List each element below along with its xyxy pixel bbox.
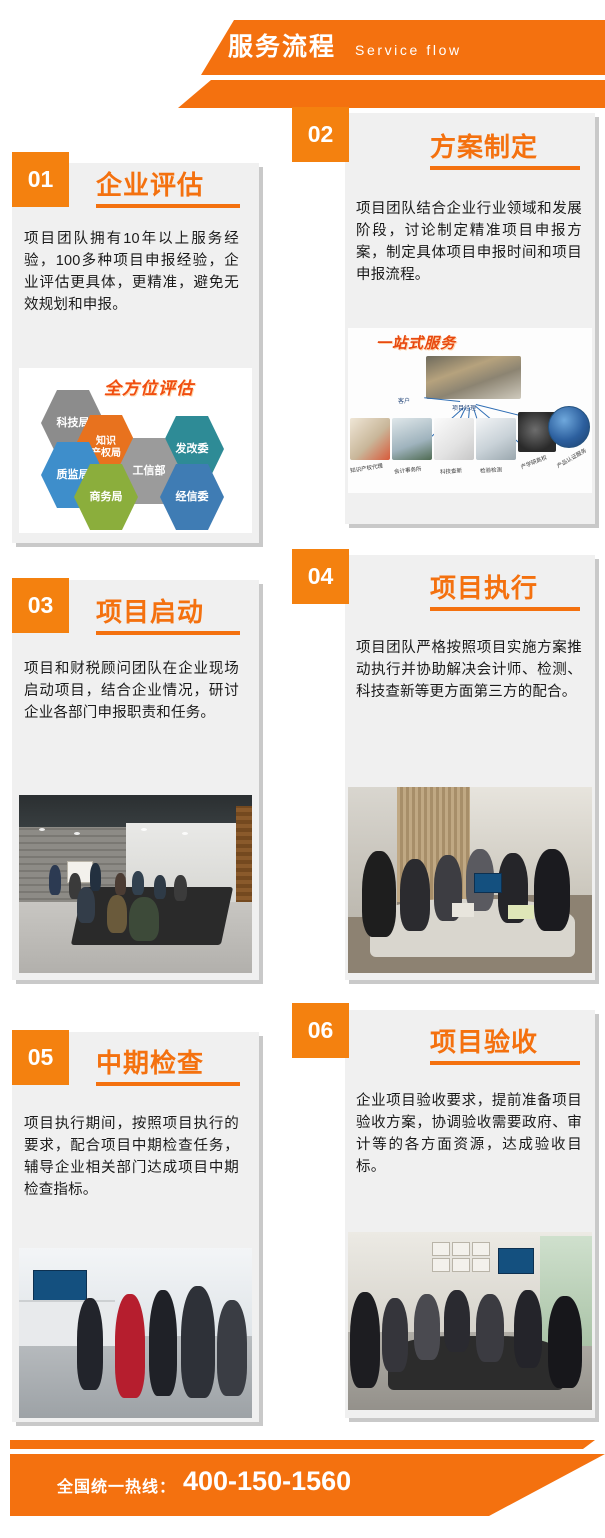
photo-wood-panel xyxy=(236,806,252,916)
step-body-04: 项目团队严格按照项目实施方案推动执行并协助解决会计师、检测、科技查新等更方面第三… xyxy=(356,637,582,703)
photo-person xyxy=(414,1294,440,1360)
oss-leaf-label-6: 产品认证服务 xyxy=(555,446,588,469)
page-subtitle: Service flow xyxy=(355,40,462,60)
step-body-02: 项目团队结合企业行业领域和发展阶段，讨论制定精准项目申报方案，制定具体项目申报时… xyxy=(356,198,582,286)
oss-node-customer: 客户 xyxy=(398,396,410,405)
photo-person xyxy=(77,1298,103,1390)
step-photo-06 xyxy=(348,1232,592,1410)
photo-wall-frame xyxy=(472,1258,490,1272)
step-title-rule-05 xyxy=(96,1082,240,1086)
step-title-05: 中期检查 xyxy=(96,1043,204,1080)
oss-center-photo xyxy=(426,356,521,399)
step-title-01: 企业评估 xyxy=(96,165,204,202)
step-body-06: 企业项目验收要求，提前准备项目验收方案，协调验收需要政府、审计等的各方面资源，达… xyxy=(356,1090,582,1178)
photo-ceiling-light xyxy=(39,828,45,831)
oss-leaf-label-1: 知识产权代理 xyxy=(350,461,384,474)
photo-person xyxy=(129,897,159,941)
photo-laptop xyxy=(474,873,502,893)
oss-leaf-photo-2 xyxy=(392,418,432,460)
step-badge-02: 02 xyxy=(292,107,349,162)
photo-wall-frame xyxy=(432,1258,450,1272)
step-title-rule-04 xyxy=(430,607,580,611)
step-body-03: 项目和财税顾问团队在企业现场启动项目，结合企业情况，研讨企业各部门申报职责和任务… xyxy=(24,658,239,724)
step-title-04: 项目执行 xyxy=(430,568,538,605)
photo-ceiling-light xyxy=(182,832,188,835)
photo-ceiling-light xyxy=(74,832,80,835)
page-title: 服务流程 xyxy=(228,31,336,63)
footer-accent-bar xyxy=(10,1440,605,1449)
photo-person xyxy=(181,1286,215,1398)
step-title-rule-06 xyxy=(430,1061,580,1065)
photo-person xyxy=(444,1290,470,1352)
oss-leaf-photo-1 xyxy=(350,418,390,460)
oss-leaf-label-4: 检验检测 xyxy=(480,465,502,474)
photo-document xyxy=(508,905,534,919)
step-photo-05 xyxy=(19,1248,252,1418)
photo-person xyxy=(514,1290,542,1368)
header-band-secondary xyxy=(0,80,605,108)
photo-person xyxy=(154,875,166,899)
photo-display-screen xyxy=(498,1248,534,1274)
oss-leaf-label-2: 会计事务所 xyxy=(394,465,422,476)
one-stop-service-title: 一站式服务 xyxy=(376,332,456,353)
step-badge-05: 05 xyxy=(12,1030,69,1085)
step-badge-04: 04 xyxy=(292,549,349,604)
footer-hotline-label: 全国统一热线： xyxy=(57,1473,176,1497)
oss-leaf-photo-4 xyxy=(476,418,516,460)
oss-certification-seal xyxy=(548,406,590,448)
photo-person xyxy=(107,895,127,933)
oss-leaf-label-3: 科技查新 xyxy=(440,466,463,476)
photo-person xyxy=(350,1292,380,1388)
step-title-03: 项目启动 xyxy=(96,592,204,629)
step-title-02: 方案制定 xyxy=(430,127,538,164)
photo-person xyxy=(115,873,126,895)
step-badge-01: 01 xyxy=(12,152,69,207)
photo-person xyxy=(534,849,570,931)
hex-diagram-title: 全方位评估 xyxy=(104,374,194,399)
photo-document xyxy=(452,903,474,917)
photo-person xyxy=(548,1296,582,1388)
oss-node-manager: 项目经理 xyxy=(452,403,476,412)
photo-person xyxy=(115,1294,145,1398)
step-badge-06: 06 xyxy=(292,1003,349,1058)
photo-person xyxy=(174,875,187,901)
photo-person xyxy=(90,863,101,891)
photo-person xyxy=(362,851,396,937)
photo-person xyxy=(149,1290,177,1396)
photo-person xyxy=(400,859,430,931)
photo-wall-frame xyxy=(452,1242,470,1256)
one-stop-service-diagram: 一站式服务 客户 项目经理 知识产权代理 会计事务所 科技查新 检验检测 产学研… xyxy=(348,328,592,493)
footer-hotline-number[interactable]: 400-150-1560 xyxy=(183,1466,351,1497)
photo-display-screen xyxy=(33,1270,87,1302)
photo-person xyxy=(217,1300,247,1396)
step-title-rule-02 xyxy=(430,166,580,170)
photo-wall-frame xyxy=(452,1258,470,1272)
photo-ceiling-light xyxy=(141,828,147,831)
photo-person xyxy=(77,887,95,923)
step-title-rule-01 xyxy=(96,204,240,208)
step-badge-03: 03 xyxy=(12,578,69,633)
photo-wall-frame xyxy=(432,1242,450,1256)
oss-leaf-photo-3 xyxy=(434,418,474,460)
step-body-05: 项目执行期间，按照项目执行的要求，配合项目中期检查任务，辅导企业相关部门达成项目… xyxy=(24,1113,239,1201)
hex-diagram: 全方位评估 科技局 知识产权局 发改委 质监局 工信部 经信委 商务局 xyxy=(19,368,252,533)
step-photo-04 xyxy=(348,787,592,973)
page-footer: 全国统一热线： 400-150-1560 xyxy=(0,1432,605,1538)
photo-person xyxy=(49,865,61,895)
step-title-rule-03 xyxy=(96,631,240,635)
page-header: 服务流程 Service flow xyxy=(0,0,605,110)
photo-person xyxy=(382,1298,408,1372)
step-photo-03 xyxy=(19,795,252,973)
step-body-01: 项目团队拥有10年以上服务经验，100多种项目申报经验，企业评估更具体，更精准，… xyxy=(24,228,239,316)
step-title-06: 项目验收 xyxy=(430,1022,538,1059)
photo-wall-frame xyxy=(472,1242,490,1256)
photo-person xyxy=(132,871,144,895)
oss-leaf-label-5: 产学研高校 xyxy=(520,453,549,471)
photo-person xyxy=(476,1294,504,1362)
